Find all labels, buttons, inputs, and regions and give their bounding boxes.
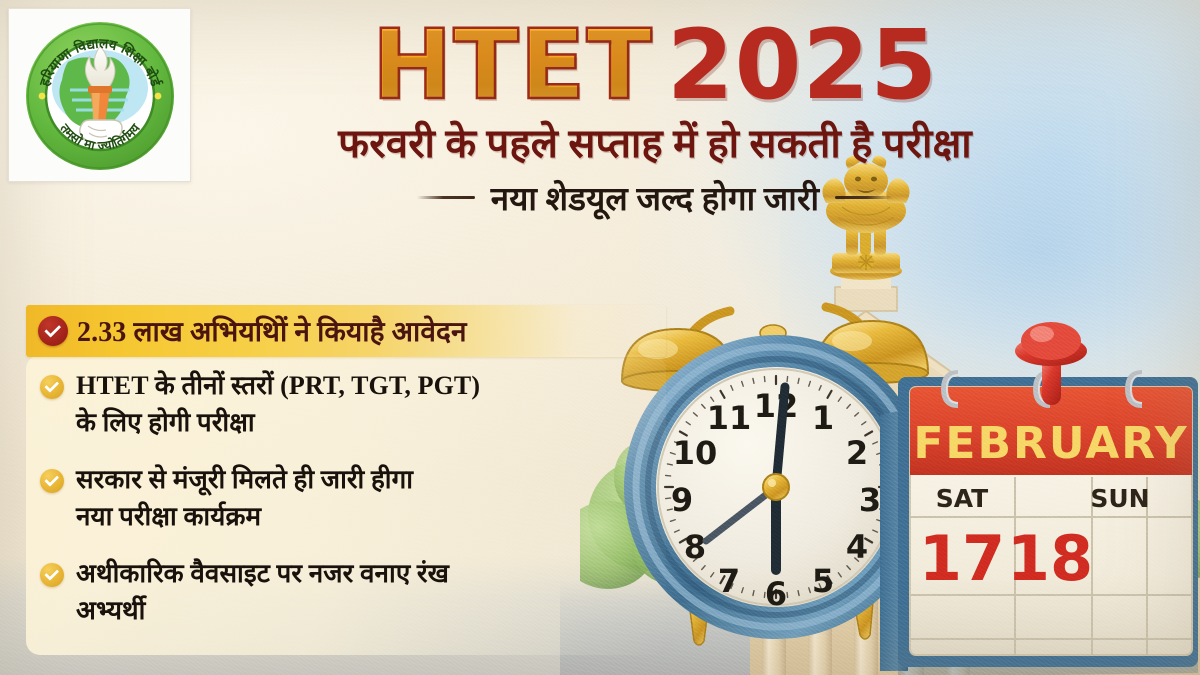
list-item-text: अथीकारिक वैवसाइट पर नजर वनाए रंख अभ्यर्थ…: [76, 556, 449, 630]
bullet-list: HTET के तीनों स्तरों (PRT, TGT, PGT) के …: [40, 368, 640, 649]
subtitle: फरवरी के पहले सप्ताह में हो सकती है परीक…: [190, 118, 1120, 169]
title-main: HTET: [372, 9, 653, 121]
highlight-banner-text: 2.33 लाख अभियथिों ने कियाहै आवेदन: [77, 312, 467, 350]
list-item: सरकार से मंजूरी मिलते ही जारी हीगा नया प…: [40, 462, 640, 536]
highlight-banner: 2.33 लाख अभियथिों ने कियाहै आवेदन: [26, 305, 666, 357]
check-circle-icon: [40, 563, 64, 587]
list-item-text: सरकार से मंजूरी मिलते ही जारी हीगा नया प…: [76, 462, 413, 536]
tagline-rule-left: [417, 196, 475, 199]
haryana-board-logo-icon: हरियाणा विद्यालय शिक्षा बोर्ड तमसो मा ज्…: [20, 16, 180, 174]
list-item-line2: के लिए होगी परीक्षा: [76, 408, 255, 437]
tagline-row: नया शेडयूल जल्द होगा जारी: [190, 175, 1120, 220]
check-circle-icon: [38, 316, 68, 346]
check-circle-icon: [40, 469, 64, 493]
list-item: HTET के तीनों स्तरों (PRT, TGT, PGT) के …: [40, 368, 640, 442]
headline-block: HTET2025 फरवरी के पहले सप्ताह में हो सकत…: [190, 16, 1120, 220]
list-item-line2: अभ्यर्थी: [76, 596, 146, 625]
list-item: अथीकारिक वैवसाइट पर नजर वनाए रंख अभ्यर्थ…: [40, 556, 640, 630]
page-title: HTET2025: [190, 16, 1120, 116]
check-circle-icon: [40, 375, 64, 399]
title-year: 2025: [667, 9, 938, 121]
list-item-text: HTET के तीनों स्तरों (PRT, TGT, PGT) के …: [76, 368, 480, 442]
list-item-line1: अथीकारिक वैवसाइट पर नजर वनाए रंख: [76, 559, 449, 588]
list-item-line2: नया परीक्षा कार्यक्रम: [76, 502, 261, 531]
tagline-rule-right: [835, 196, 893, 199]
tagline: नया शेडयूल जल्द होगा जारी: [491, 175, 820, 220]
list-item-line1: HTET के तीनों स्तरों (PRT, TGT, PGT): [76, 371, 480, 400]
board-logo-container: हरियाणा विद्यालय शिक्षा बोर्ड तमसो मा ज्…: [8, 8, 191, 182]
htet-2025-infographic: 12 1 2 3 4 5 6 7 8 9 10 11: [0, 0, 1200, 675]
list-item-line1: सरकार से मंजूरी मिलते ही जारी हीगा: [76, 465, 413, 494]
